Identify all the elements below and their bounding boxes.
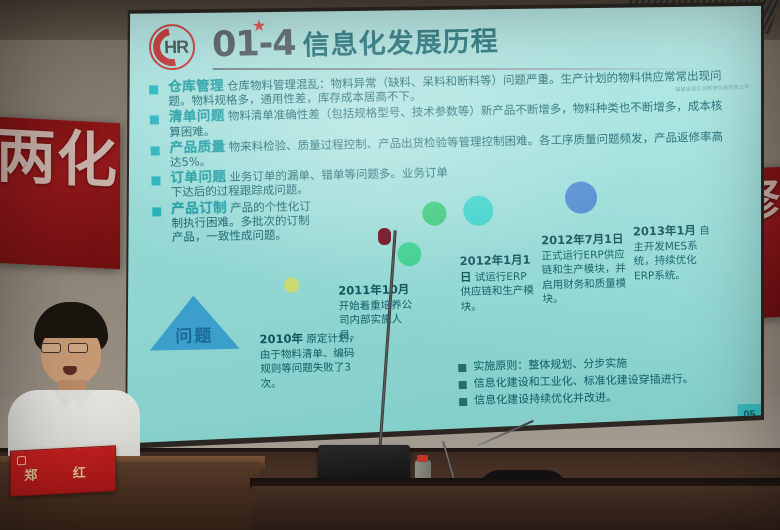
nameplate: 郑 红 [10, 445, 116, 497]
list-item: 产品订制产品的个性化订制执行困难。多批次的订制产品，一致性成问题。 [152, 199, 315, 245]
banner-left-text: 两化融 [0, 117, 120, 202]
glasses-left-lens [41, 343, 61, 353]
bullet-square-icon [151, 146, 160, 155]
timeline-item-2012-07: 2012年7月1日 正式运行ERP供应链和生产模块，并启用财务和质量模块。 [541, 232, 627, 307]
list-item: 信息化建设持续优化并改进。 [459, 388, 749, 408]
summary-text: 信息化建设持续优化并改进。 [474, 391, 617, 408]
timeline-item-2012-01: 2012年1月1日 试运行ERP供应链和生产模块。 [459, 253, 535, 315]
hair-front [34, 312, 108, 338]
bullet-square-icon [459, 398, 467, 406]
bullet-square-icon [150, 116, 159, 125]
summary-list: 实施原则：整体规划、分步实施 信息化建设和工业化、标准化建设穿插进行。 信息化建… [458, 354, 749, 411]
bottle-cap [417, 455, 428, 462]
summary-text: 信息化建设和工业化、标准化建设穿插进行。 [474, 372, 694, 391]
triangle-label: 问题 [157, 321, 232, 348]
timeline-text: 试运行ERP供应链和生产模块。 [460, 270, 534, 312]
timeline-item-2011: 2011年10月 开始着重培养公司内部实施人员。 [338, 282, 419, 343]
slide-title-row: 01-4 信息化发展历程 [212, 19, 500, 65]
glasses-right-lens [68, 343, 88, 353]
hr-logo-text: HR [164, 36, 189, 57]
microphone-head [378, 228, 391, 245]
banner-left: 两化融 [0, 117, 120, 270]
page-title: 信息化发展历程 [302, 19, 499, 62]
bullet-square-icon [458, 364, 466, 372]
summary-text: 实施原则：整体规划、分步实施 [473, 357, 627, 374]
presentation-slide: HR 01-4 信息化发展历程 福建省湘红润精密仪器有限公司 仓库管理仓库物料管… [127, 5, 761, 445]
bullet-square-icon [459, 381, 467, 389]
problem-head: 产品质量 [169, 139, 225, 156]
bullet-square-icon [149, 85, 158, 94]
timeline-date: 2012年7月1日 [541, 232, 624, 248]
timeline-text: 开始着重培养公司内部实施人员。 [339, 299, 413, 342]
bullet-square-icon [152, 207, 161, 216]
timeline-date: 2011年10月 [338, 282, 409, 297]
timeline-date: 2010年 [259, 331, 303, 346]
conference-room-photo: 两化融 修班 HR 01-4 信息化发展历程 福建省湘红润精密仪器有限公司 仓库… [0, 0, 780, 530]
decorative-dot [284, 277, 299, 292]
timeline-date: 2013年1月 [633, 223, 696, 238]
table-front [252, 486, 780, 530]
section-number: 01-4 [212, 23, 297, 65]
timeline-item-2013-01: 2013年1月 自主开发MES系统，持续优化ERP系统。 [633, 223, 714, 284]
decorative-dot [397, 242, 422, 266]
nameplate-text: 郑 红 [11, 460, 115, 484]
timeline-text: 正式运行ERP供应链和生产模块，并启用财务和质量模块。 [541, 248, 626, 305]
bullet-square-icon [151, 177, 160, 186]
problem-head: 清单问题 [169, 108, 225, 125]
list-item: 订单问题业务订单的漏单、错单等问题多。业务订单下达后的过程跟踪成问题。 [151, 165, 452, 200]
hr-logo: HR [149, 24, 196, 71]
